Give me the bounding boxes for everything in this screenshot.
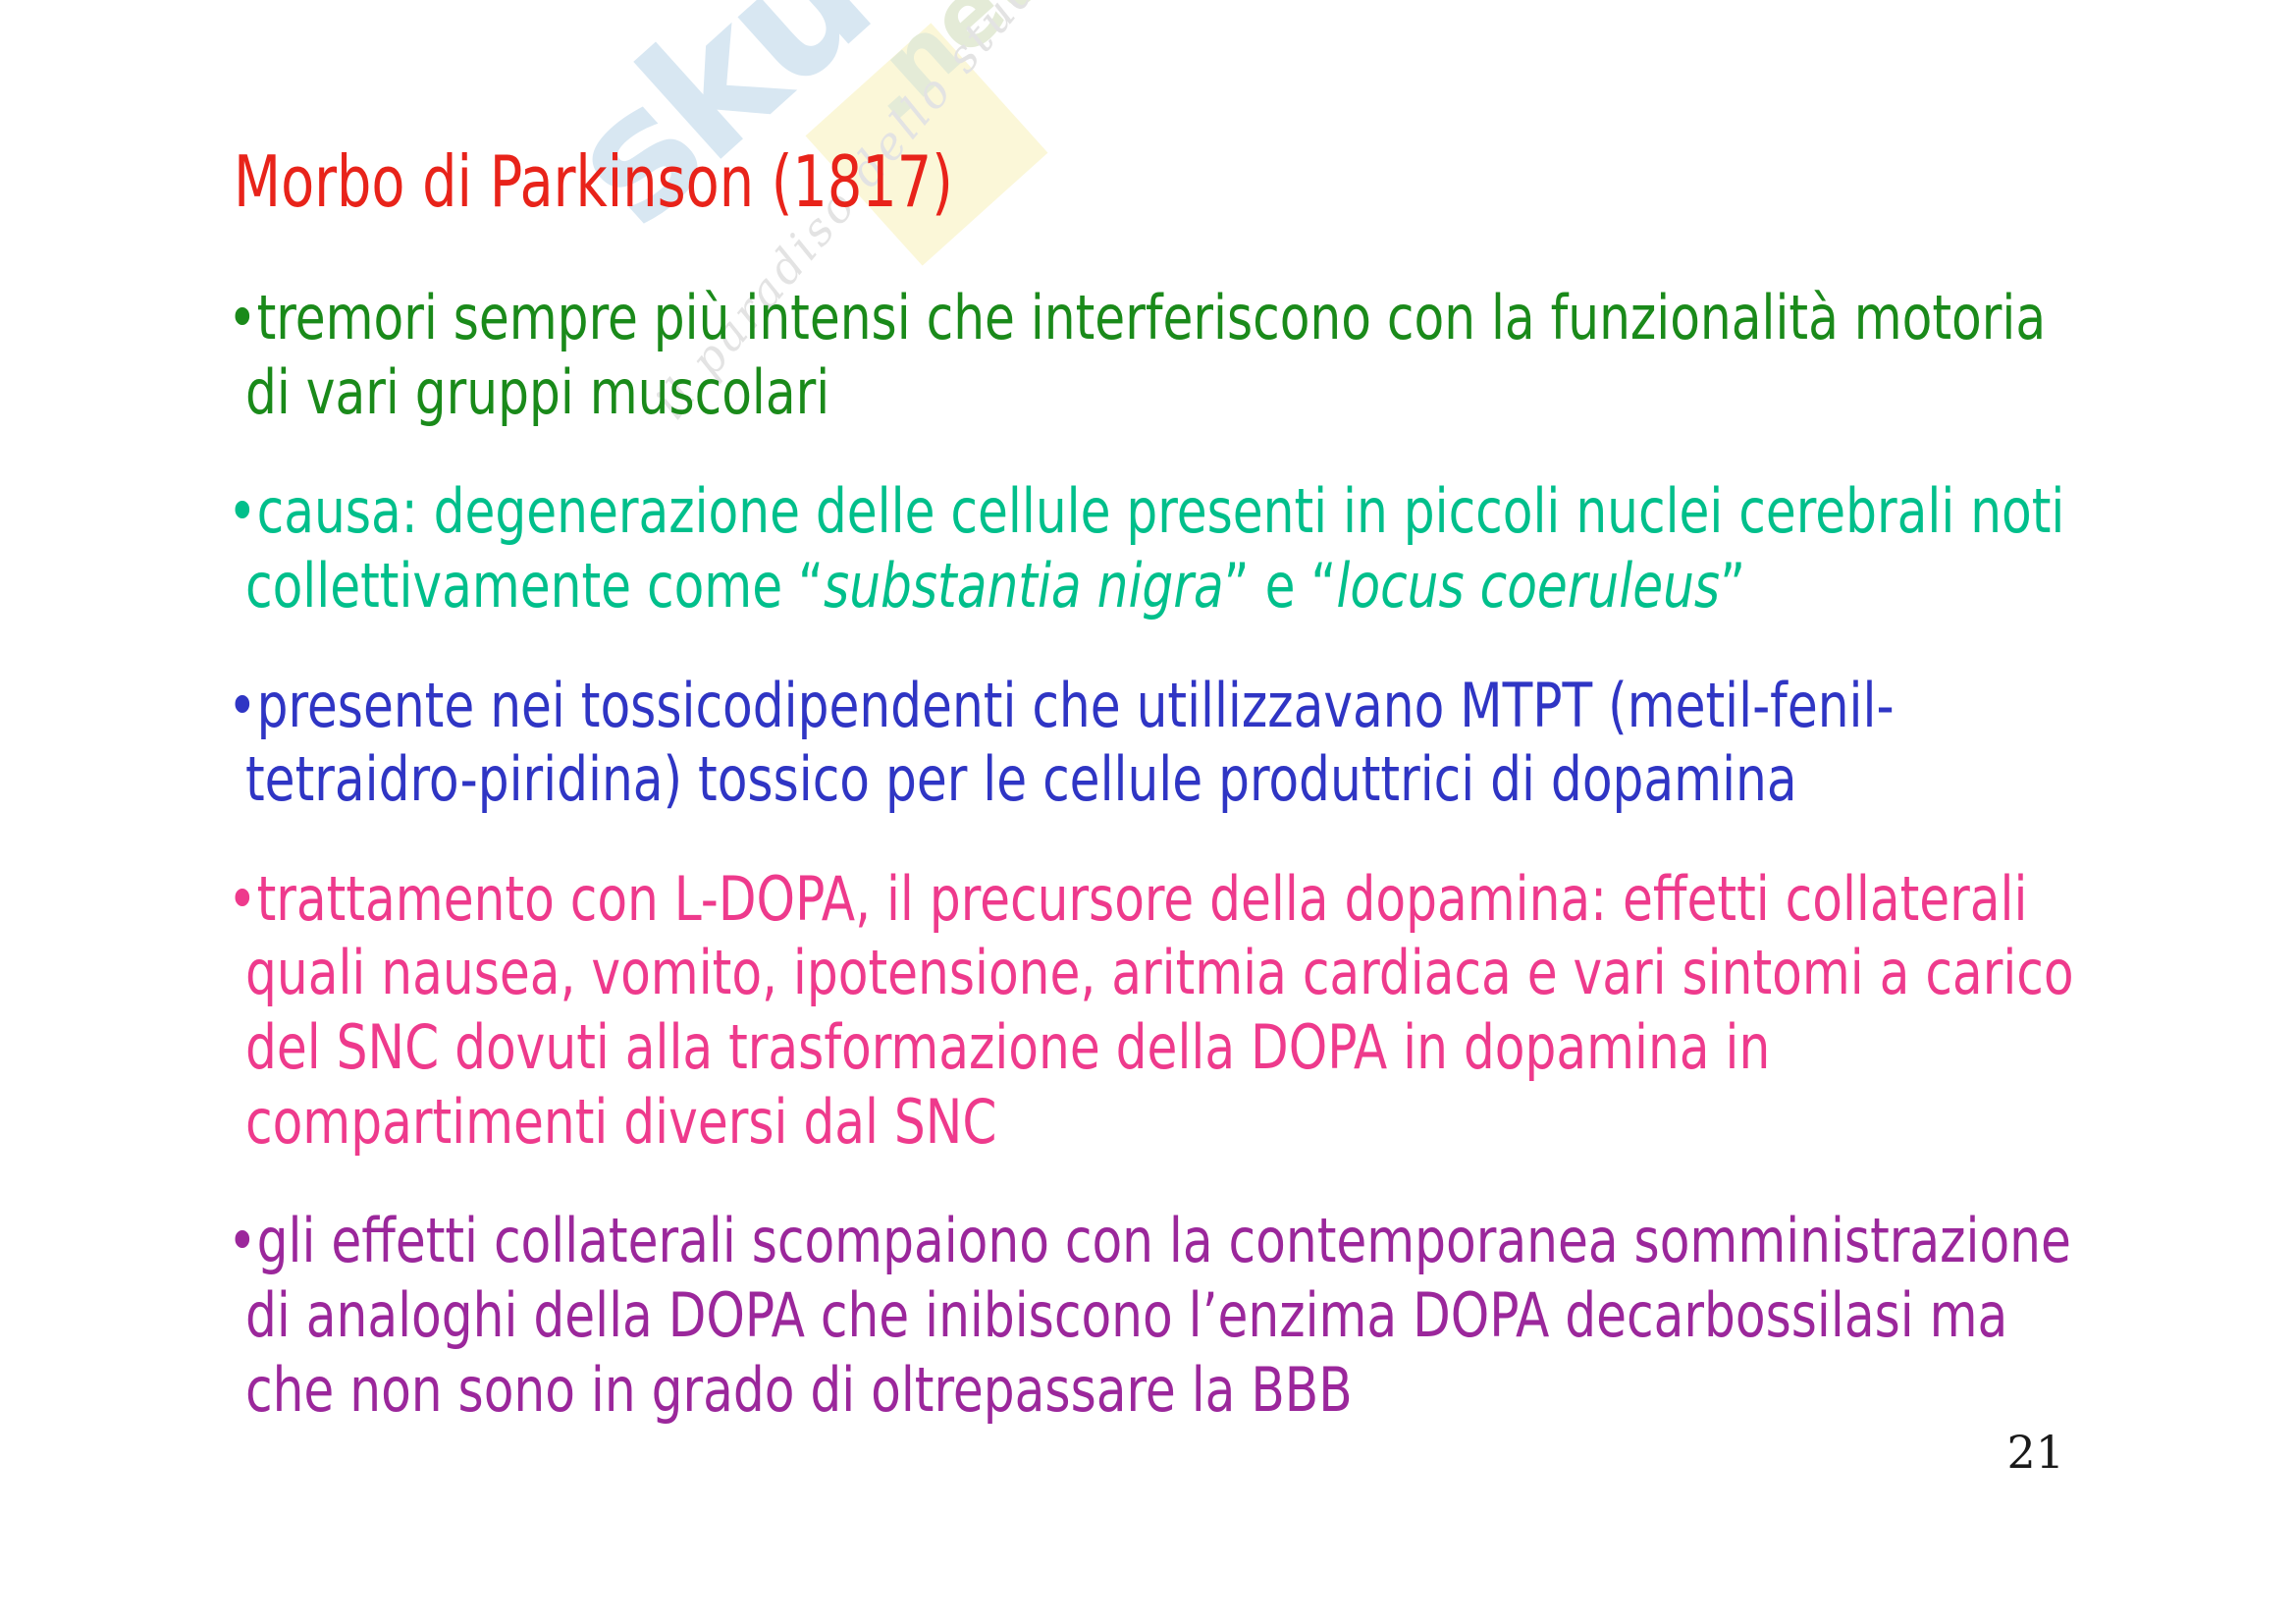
list-item-text-mid: ” e “ — [1224, 550, 1337, 622]
list-item: •gli effetti collaterali scompaiono con … — [228, 1204, 2101, 1427]
list-item-text: tremori sempre più intensi che interferi… — [245, 282, 2046, 428]
bullet-marker: • — [228, 1205, 257, 1276]
bullet-marker: • — [228, 670, 257, 741]
list-item: •tremori sempre più intensi che interfer… — [228, 281, 2101, 429]
slide-content: Morbo di Parkinson (1817) •tremori sempr… — [0, 0, 2296, 1623]
list-item-text: gli effetti collaterali scompaiono con l… — [245, 1205, 2071, 1425]
bullet-marker: • — [228, 282, 257, 353]
page-number: 21 — [2006, 1426, 2064, 1479]
bullet-marker: • — [228, 863, 257, 935]
list-item-term-substantia-nigra: substantia nigra — [824, 550, 1224, 622]
list-item-text: presente nei tossicodipendenti che utill… — [245, 670, 1895, 816]
slide-canvas: skuola .net il paradiso dello studente M… — [0, 0, 2296, 1623]
list-item: •causa: degenerazione delle cellule pres… — [228, 474, 2101, 622]
bullet-marker: • — [228, 475, 257, 547]
list-item: •trattamento con L-DOPA, il precursore d… — [228, 862, 2101, 1160]
bullet-list: •tremori sempre più intensi che interfer… — [228, 281, 2112, 1427]
list-item-text: trattamento con L-DOPA, il precursore de… — [245, 863, 2074, 1158]
list-item-term-locus-coeruleus: locus coeruleus — [1336, 550, 1720, 622]
list-item-text-tail: ” — [1720, 550, 1745, 622]
page-title: Morbo di Parkinson (1817) — [234, 145, 953, 220]
list-item: •presente nei tossicodipendenti che util… — [228, 669, 2101, 817]
